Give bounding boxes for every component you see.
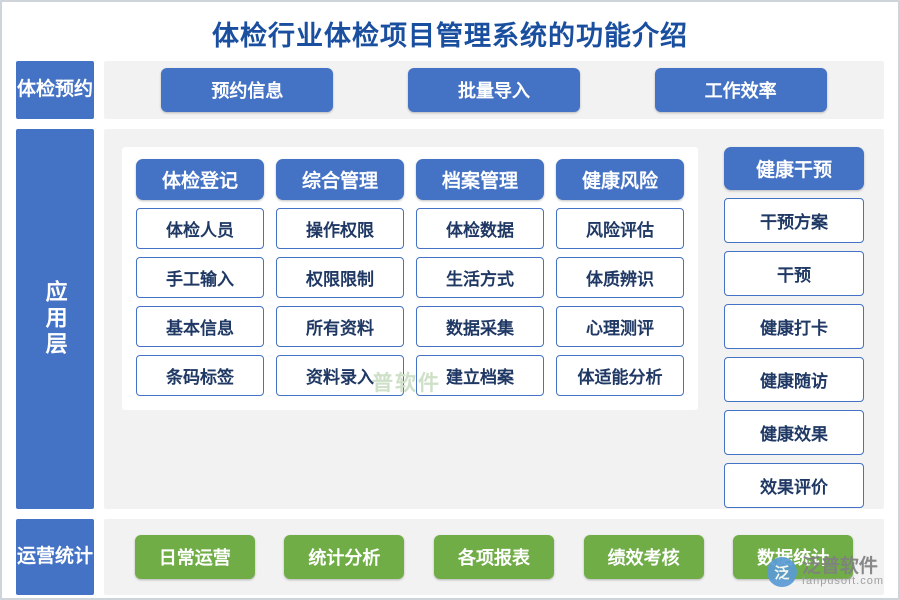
- column-head-registration[interactable]: 体检登记: [136, 159, 264, 200]
- operations-item-4[interactable]: 绩效考核: [584, 535, 704, 579]
- cell-risk-2[interactable]: 体质辨识: [556, 257, 684, 298]
- cell-registration-3[interactable]: 基本信息: [136, 306, 264, 347]
- cell-registration-4[interactable]: 条码标签: [136, 355, 264, 396]
- reservation-item-1[interactable]: 预约信息: [161, 68, 333, 112]
- column-head-risk[interactable]: 健康风险: [556, 159, 684, 200]
- operations-item-2[interactable]: 统计分析: [284, 535, 404, 579]
- operations-item-5[interactable]: 数据统计: [733, 535, 853, 579]
- application-body: 体检登记 体检人员 手工输入 基本信息 条码标签 综合管理 操作权限 权限限制 …: [104, 129, 884, 509]
- column-archive: 档案管理 体检数据 生活方式 数据采集 建立档案: [416, 159, 544, 396]
- cell-archive-4[interactable]: 建立档案: [416, 355, 544, 396]
- diagram-page: 体检行业体检项目管理系统的功能介绍 体检预约 预约信息 批量导入 工作效率 应用…: [0, 0, 900, 600]
- column-intervention: 健康干预 干预方案 干预 健康打卡 健康随访 健康效果 效果评价: [724, 147, 864, 508]
- cell-archive-1[interactable]: 体检数据: [416, 208, 544, 249]
- cell-intervention-3[interactable]: 健康打卡: [724, 304, 864, 349]
- cell-archive-2[interactable]: 生活方式: [416, 257, 544, 298]
- application-columns: 体检登记 体检人员 手工输入 基本信息 条码标签 综合管理 操作权限 权限限制 …: [122, 147, 698, 410]
- reservation-item-3[interactable]: 工作效率: [655, 68, 827, 112]
- column-head-comprehensive[interactable]: 综合管理: [276, 159, 404, 200]
- reservation-item-2[interactable]: 批量导入: [408, 68, 580, 112]
- column-head-archive[interactable]: 档案管理: [416, 159, 544, 200]
- application-label: 应用层: [16, 129, 94, 509]
- cell-intervention-6[interactable]: 效果评价: [724, 463, 864, 508]
- reservation-label: 体检预约: [16, 61, 94, 119]
- cell-comprehensive-2[interactable]: 权限限制: [276, 257, 404, 298]
- operations-item-3[interactable]: 各项报表: [434, 535, 554, 579]
- reservation-items: 预约信息 批量导入 工作效率: [104, 61, 884, 119]
- page-title: 体检行业体检项目管理系统的功能介绍: [2, 2, 898, 61]
- cell-archive-3[interactable]: 数据采集: [416, 306, 544, 347]
- operations-label: 运营统计: [16, 519, 94, 595]
- operations-items: 日常运营 统计分析 各项报表 绩效考核 数据统计: [104, 519, 884, 595]
- cell-intervention-2[interactable]: 干预: [724, 251, 864, 296]
- cell-comprehensive-3[interactable]: 所有资料: [276, 306, 404, 347]
- cell-registration-1[interactable]: 体检人员: [136, 208, 264, 249]
- cell-risk-4[interactable]: 体适能分析: [556, 355, 684, 396]
- operations-row: 运营统计 日常运营 统计分析 各项报表 绩效考核 数据统计: [16, 519, 884, 595]
- cell-intervention-5[interactable]: 健康效果: [724, 410, 864, 455]
- cell-comprehensive-1[interactable]: 操作权限: [276, 208, 404, 249]
- column-registration: 体检登记 体检人员 手工输入 基本信息 条码标签: [136, 159, 264, 396]
- cell-intervention-4[interactable]: 健康随访: [724, 357, 864, 402]
- cell-intervention-1[interactable]: 干预方案: [724, 198, 864, 243]
- column-head-intervention[interactable]: 健康干预: [724, 147, 864, 190]
- column-risk: 健康风险 风险评估 体质辨识 心理测评 体适能分析: [556, 159, 684, 396]
- operations-item-1[interactable]: 日常运营: [135, 535, 255, 579]
- cell-risk-3[interactable]: 心理测评: [556, 306, 684, 347]
- column-comprehensive: 综合管理 操作权限 权限限制 所有资料 资料录入: [276, 159, 404, 396]
- cell-comprehensive-4[interactable]: 资料录入: [276, 355, 404, 396]
- application-row: 应用层 体检登记 体检人员 手工输入 基本信息 条码标签 综合管理 操作权限 权…: [16, 129, 884, 509]
- cell-risk-1[interactable]: 风险评估: [556, 208, 684, 249]
- reservation-row: 体检预约 预约信息 批量导入 工作效率: [16, 61, 884, 119]
- cell-registration-2[interactable]: 手工输入: [136, 257, 264, 298]
